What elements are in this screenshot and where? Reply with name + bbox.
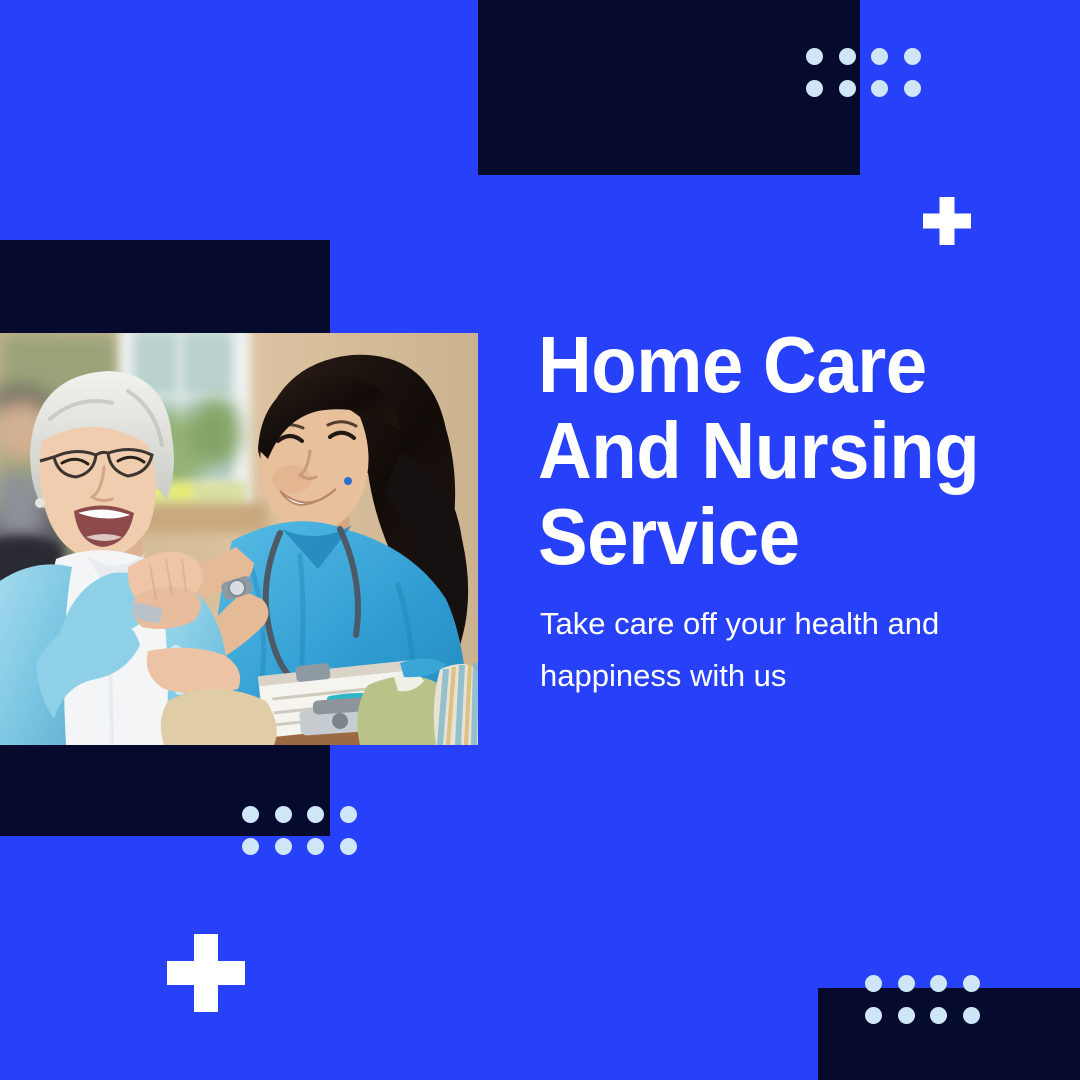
dot [963, 1007, 980, 1024]
dot-grid-top-right [806, 48, 936, 112]
subtitle-text: Take care off your health and happiness … [540, 598, 960, 702]
navy-block-top [478, 0, 860, 175]
poster-canvas: Home Care And Nursing Service Take care … [0, 0, 1080, 1080]
dot [340, 838, 357, 855]
dot [871, 48, 888, 65]
dot-grid-bottom-right [865, 975, 995, 1039]
dot [242, 838, 259, 855]
dot [839, 48, 856, 65]
plus-icon-bottom-left [167, 934, 245, 1012]
dot [340, 806, 357, 823]
dot [871, 80, 888, 97]
dot [865, 1007, 882, 1024]
hero-photo-illustration [0, 333, 478, 745]
dot [307, 838, 324, 855]
dot [839, 80, 856, 97]
dot [307, 806, 324, 823]
plus-horizontal-bar [923, 214, 971, 229]
page-title: Home Care And Nursing Service [538, 322, 1003, 580]
dot [242, 806, 259, 823]
dot [963, 975, 980, 992]
plus-icon-right [923, 197, 971, 245]
dot [930, 975, 947, 992]
dot [904, 48, 921, 65]
dot [904, 80, 921, 97]
plus-horizontal-bar [167, 961, 245, 985]
hero-photo [0, 333, 478, 745]
dot [898, 975, 915, 992]
dot [806, 48, 823, 65]
dot [275, 806, 292, 823]
dot-grid-bottom-left [242, 806, 372, 870]
dot [275, 838, 292, 855]
dot [806, 80, 823, 97]
dot [865, 975, 882, 992]
dot [930, 1007, 947, 1024]
dot [898, 1007, 915, 1024]
